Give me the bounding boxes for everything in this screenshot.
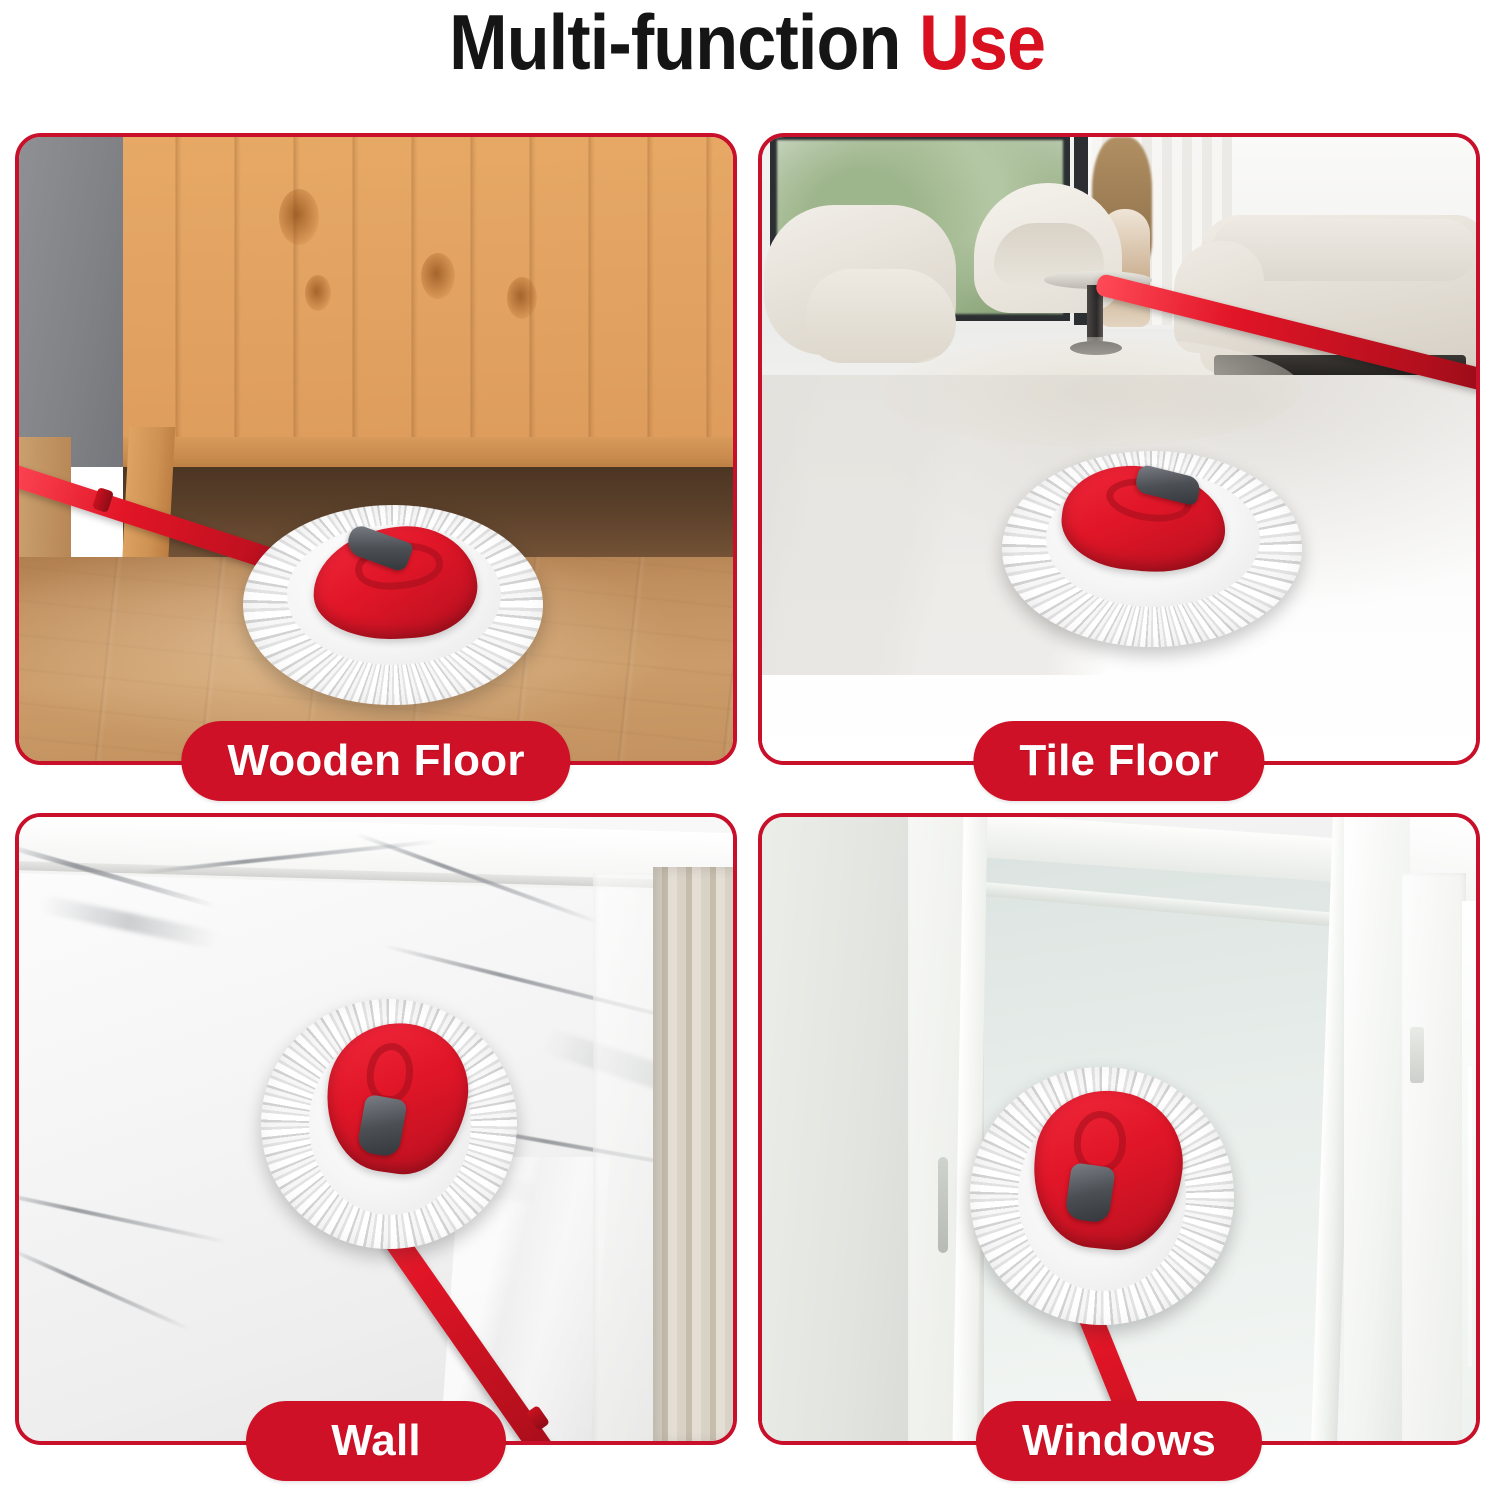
panel-tile-floor[interactable]: Tile Floor (758, 133, 1480, 765)
mop-wall (19, 997, 733, 1441)
scene-tile-floor (762, 137, 1476, 761)
mop-tile-floor (762, 405, 1476, 761)
scene-windows (762, 817, 1476, 1441)
panel-image-tile-floor (762, 137, 1476, 761)
badge-label: Wall (331, 1419, 421, 1463)
badge-label: Windows (1022, 1419, 1216, 1463)
badge-wooden-floor[interactable]: Wooden Floor (181, 721, 570, 801)
page-title-red: Use (919, 0, 1045, 86)
badge-tile-floor[interactable]: Tile Floor (973, 721, 1264, 801)
wood-knot-icon (507, 277, 537, 319)
wood-knot-icon (421, 253, 455, 299)
panel-wall[interactable]: Wall (15, 813, 737, 1445)
panel-windows[interactable]: Windows (758, 813, 1480, 1445)
panel-image-windows (762, 817, 1476, 1441)
panel-image-wooden-floor (19, 137, 733, 761)
wood-knot-icon (305, 275, 331, 311)
mop-wooden-floor (19, 433, 733, 761)
grey-wall (19, 137, 131, 467)
panel-grid: Wooden Floor (15, 133, 1480, 1445)
page-title-dark: Multi-function (449, 0, 900, 86)
scene-wooden-floor (19, 137, 733, 761)
page-header: Multi-function Use (0, 0, 1495, 110)
panel-image-wall (19, 817, 733, 1441)
lounge-chair-left-seat (806, 269, 956, 363)
mop-windows (762, 1067, 1476, 1441)
badge-label: Tile Floor (1019, 739, 1218, 783)
badge-windows[interactable]: Windows (976, 1401, 1262, 1481)
badge-label: Wooden Floor (227, 739, 524, 783)
scene-wall (19, 817, 733, 1441)
page-title: Multi-function Use (449, 0, 1045, 82)
panel-wooden-floor[interactable]: Wooden Floor (15, 133, 737, 765)
wood-knot-icon (279, 189, 319, 245)
badge-wall[interactable]: Wall (246, 1401, 506, 1481)
